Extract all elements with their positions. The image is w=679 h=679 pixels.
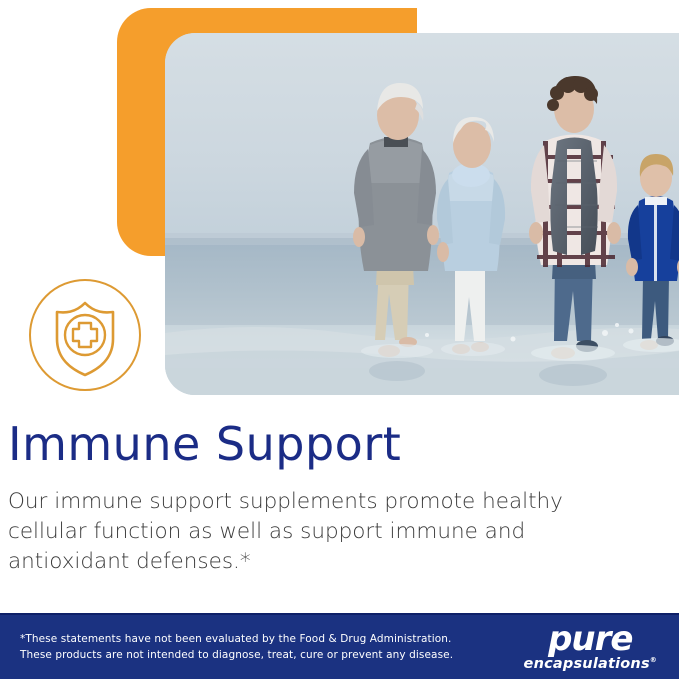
brand-name-encapsulations: encapsulations®	[524, 657, 657, 672]
registered-trademark-icon: ®	[650, 656, 657, 664]
page-subcopy: Our immune support supplements promote h…	[8, 487, 623, 577]
photo-illustration	[165, 33, 679, 395]
footer-bar: *These statements have not been evaluate…	[0, 613, 679, 679]
brand-sub-text: encapsulations	[524, 656, 650, 672]
product-category-banner: Immune Support Our immune support supple…	[0, 0, 679, 679]
shield-with-medical-cross-icon	[27, 277, 143, 393]
brand-name-pure: pure	[524, 622, 657, 656]
family-walking-on-beach-photo	[165, 33, 679, 395]
shield-badge-svg	[27, 277, 143, 393]
fda-disclaimer-text: *These statements have not been evaluate…	[20, 631, 453, 663]
text-content-block: Immune Support Our immune support supple…	[8, 415, 648, 577]
pure-encapsulations-logo: pure encapsulations®	[524, 622, 665, 672]
page-title: Immune Support	[8, 415, 648, 473]
